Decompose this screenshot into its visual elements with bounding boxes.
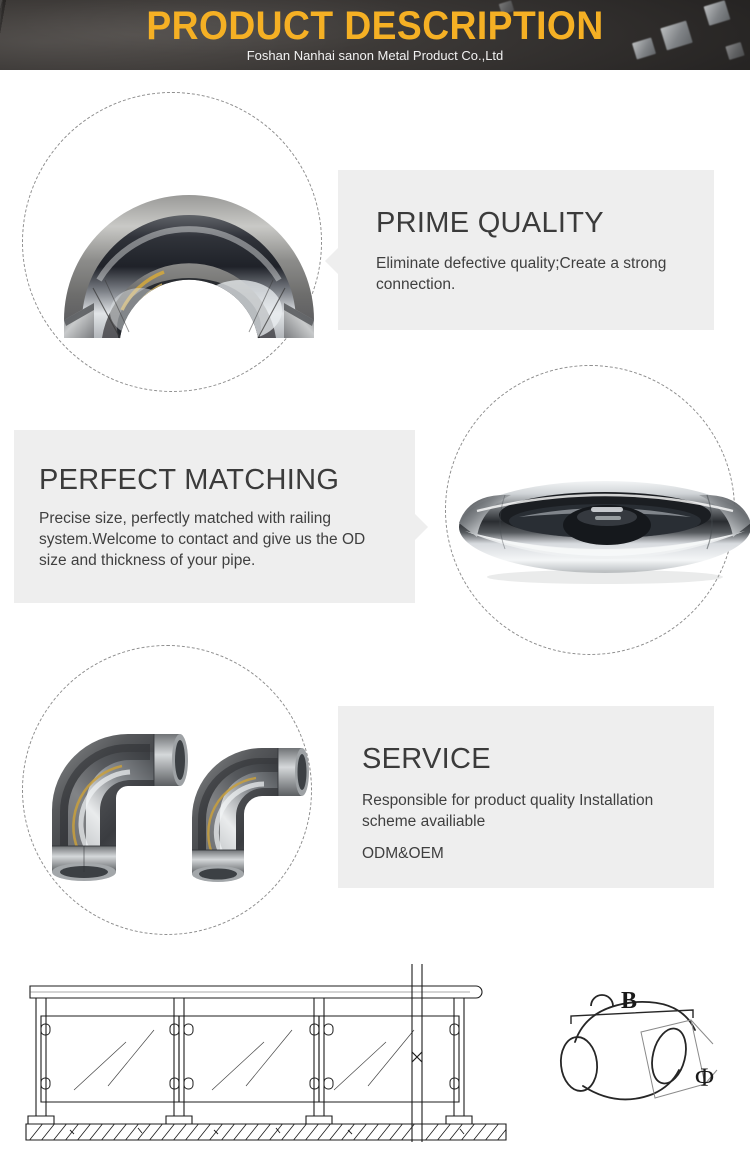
panel-body-text: Responsible for product quality Installa… bbox=[362, 790, 707, 832]
callout-panel-prime-quality: PRIME QUALITY Eliminate defective qualit… bbox=[338, 170, 714, 330]
panel-body-text: Eliminate defective quality;Create a str… bbox=[376, 253, 696, 295]
callout-panel-perfect-matching: PERFECT MATCHING Precise size, perfectly… bbox=[14, 430, 415, 603]
railing-technical-drawing bbox=[8, 950, 518, 1150]
callout-notch-right-icon bbox=[415, 514, 428, 540]
page-title: PRODUCT DESCRIPTION bbox=[26, 4, 724, 48]
panel-body-text: Precise size, perfectly matched with rai… bbox=[39, 508, 389, 571]
product-description-page: PRODUCT DESCRIPTION Foshan Nanhai sanon … bbox=[0, 0, 750, 1155]
panel-extra-text: ODM&OEM bbox=[362, 843, 444, 864]
dimension-label-diameter: Φ bbox=[695, 1063, 714, 1092]
panel-heading: PRIME QUALITY bbox=[376, 206, 604, 240]
dimension-label-arc: B bbox=[621, 988, 637, 1014]
callout-notch-left-icon bbox=[325, 248, 338, 274]
header-banner: PRODUCT DESCRIPTION Foshan Nanhai sanon … bbox=[0, 0, 750, 70]
elbow-dimension-sketch: B Φ bbox=[545, 958, 745, 1150]
product-photo-elbow-pair bbox=[30, 700, 310, 900]
product-photo-ring bbox=[455, 465, 750, 590]
panel-heading: SERVICE bbox=[362, 742, 491, 776]
panel-heading: PERFECT MATCHING bbox=[39, 463, 339, 497]
company-name: Foshan Nanhai sanon Metal Product Co.,Lt… bbox=[0, 48, 750, 64]
callout-panel-service: SERVICE Responsible for product quality … bbox=[338, 706, 714, 888]
product-photo-elbow-arch bbox=[44, 160, 334, 345]
